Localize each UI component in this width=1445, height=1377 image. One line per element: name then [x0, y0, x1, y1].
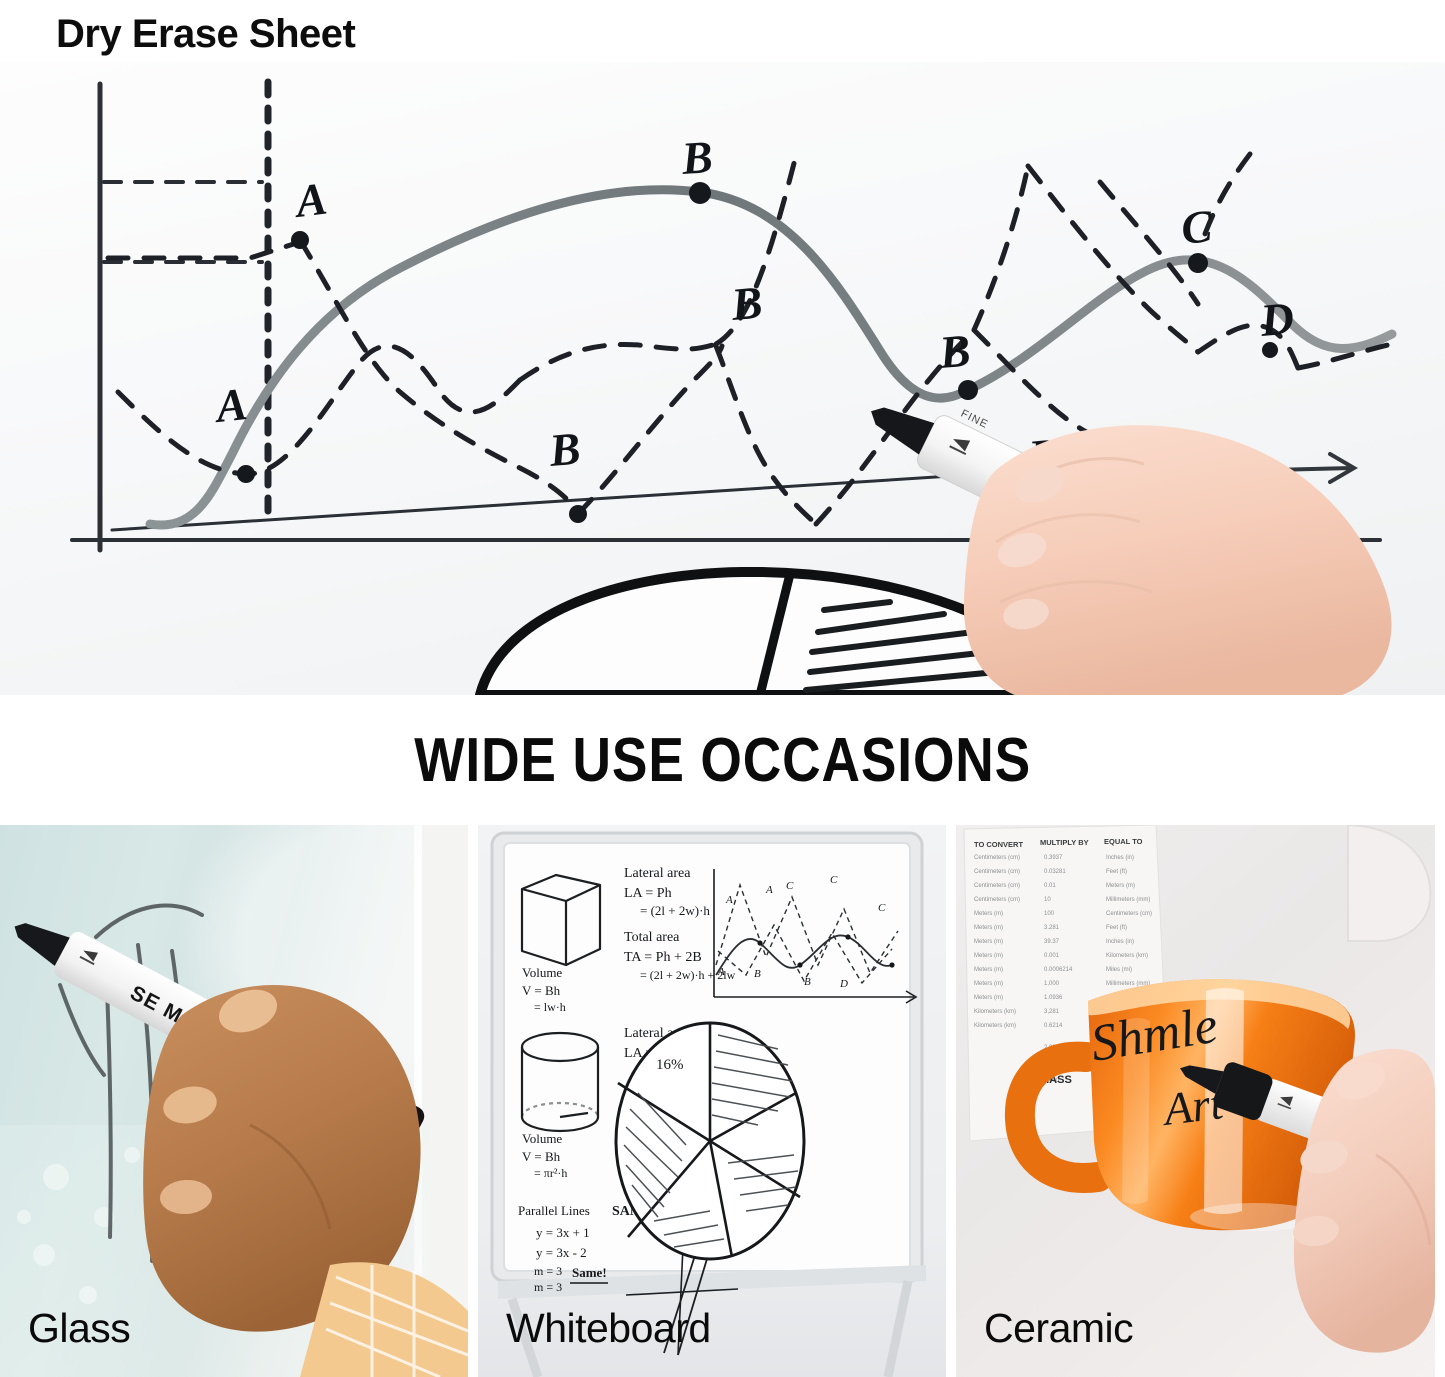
conversion-table-cell: 100 — [1044, 911, 1055, 917]
svg-text:B: B — [754, 968, 761, 980]
svg-text:V = Bh: V = Bh — [522, 983, 561, 998]
page-title-bar: Dry Erase Sheet — [0, 0, 1445, 62]
conversion-table-cell: Kilometers (km) — [974, 1009, 1016, 1015]
panel-ceramic: TO CONVERT MULTIPLY BY EQUAL TO Centimet… — [956, 825, 1435, 1377]
use-case-panels: SE MARKER — [0, 825, 1445, 1377]
conversion-table-cell: 0.6214 — [1044, 1023, 1063, 1029]
svg-text:Volume: Volume — [522, 1131, 562, 1146]
wide-use-banner: WIDE USE OCCASIONS — [0, 695, 1445, 825]
conversion-table-cell: 1,000 — [1044, 981, 1060, 987]
conversion-table-cell: 0.0006214 — [1044, 967, 1073, 973]
svg-text:C: C — [830, 874, 838, 886]
conversion-table-cell: 39.37 — [1044, 939, 1060, 945]
conversion-table-cell: Centimeters (cm) — [974, 869, 1020, 875]
conversion-table-cell: Centimeters (cm) — [974, 897, 1020, 903]
svg-text:= (2l + 2w)·h: = (2l + 2w)·h — [640, 903, 710, 918]
conversion-table-cell: Inches (in) — [1106, 939, 1134, 945]
svg-text:y = 3x + 1: y = 3x + 1 — [536, 1225, 590, 1240]
svg-text:C: C — [786, 880, 794, 892]
svg-text:D: D — [1257, 292, 1296, 346]
panel-caption-glass: Glass — [28, 1308, 130, 1349]
svg-text:Total area: Total area — [624, 930, 680, 945]
conversion-table-cell: Centimeters (cm) — [1106, 911, 1152, 917]
conversion-table-cell: 0.001 — [1044, 953, 1060, 959]
conversion-table-cell: 0.03281 — [1044, 869, 1066, 875]
page-title: Dry Erase Sheet — [56, 6, 1445, 62]
svg-text:B: B — [728, 276, 764, 330]
svg-text:B: B — [804, 976, 811, 988]
svg-text:A: A — [211, 378, 250, 432]
conversion-table-cell: Meters (m) — [974, 995, 1003, 1001]
svg-text:C: C — [878, 902, 886, 914]
conversion-table-cell: Feet (ft) — [1106, 925, 1127, 931]
panel-whiteboard: Lateral area LA = Ph = (2l + 2w)·h Total… — [478, 825, 946, 1377]
svg-text:m = 3: m = 3 — [534, 1264, 562, 1278]
pie-slice-label: 16% — [656, 1057, 684, 1073]
conversion-table-cell: Centimeters (cm) — [974, 855, 1020, 861]
hero-guide-horizontal — [104, 182, 262, 262]
conversion-table-cell: Meters (m) — [1106, 883, 1135, 889]
glass-scene: SE MARKER — [0, 825, 468, 1377]
conversion-table-cell: 1.0936 — [1044, 995, 1063, 1001]
svg-text:B: B — [546, 422, 582, 476]
conversion-table-cell: Meters (m) — [974, 925, 1003, 931]
conversion-table-cell: Inches (in) — [1106, 855, 1134, 861]
svg-text:= πr²·h: = πr²·h — [534, 1166, 567, 1180]
svg-text:A: A — [717, 966, 725, 978]
conversion-table-cell: Miles (mi) — [1106, 967, 1132, 973]
panel-caption-whiteboard: Whiteboard — [506, 1308, 711, 1349]
conversion-table-cell: Feet (ft) — [1106, 869, 1127, 875]
svg-text:m = 3: m = 3 — [534, 1280, 562, 1294]
svg-text:A: A — [290, 173, 330, 228]
banner-heading: WIDE USE OCCASIONS — [414, 725, 1031, 796]
panel-glass: SE MARKER — [0, 825, 468, 1377]
svg-text:Same!: Same! — [572, 1265, 607, 1280]
ceramic-scene: TO CONVERT MULTIPLY BY EQUAL TO Centimet… — [956, 825, 1435, 1377]
svg-text:TO CONVERT: TO CONVERT — [974, 840, 1023, 849]
conversion-table-cell: 10 — [1044, 897, 1051, 903]
hero-hand-with-marker: DRY ERASE MARKER FINE — [900, 392, 1445, 695]
conversion-table-cell: 3.281 — [1044, 925, 1060, 931]
conversion-table-cell: Millimeters (mm) — [1106, 897, 1150, 903]
svg-text:MULTIPLY BY: MULTIPLY BY — [1040, 838, 1089, 847]
conversion-table-cell: Meters (m) — [974, 939, 1003, 945]
ceramic-bowl — [1348, 825, 1430, 941]
conversion-table-cell: Kilometers (km) — [974, 1023, 1016, 1029]
svg-text:y = 3x - 2: y = 3x - 2 — [536, 1245, 587, 1260]
svg-text:TA = Ph + 2B: TA = Ph + 2B — [624, 950, 702, 965]
conversion-table-cell: Meters (m) — [974, 981, 1003, 987]
svg-text:= lw·h: = lw·h — [534, 1000, 566, 1014]
conversion-table-cell: 0.01 — [1044, 883, 1056, 889]
whiteboard-pie-chart: 16% — [616, 1023, 804, 1259]
svg-text:LA = Ph: LA = Ph — [624, 886, 672, 901]
svg-text:EQUAL TO: EQUAL TO — [1104, 837, 1143, 846]
svg-text:D: D — [839, 978, 848, 990]
svg-text:B: B — [936, 324, 972, 378]
svg-text:A: A — [725, 894, 733, 906]
conversion-table-cell: Centimeters (cm) — [974, 883, 1020, 889]
svg-text:Lateral area: Lateral area — [624, 866, 691, 881]
conversion-table-cell: Meters (m) — [974, 967, 1003, 973]
svg-text:Parallel Lines: Parallel Lines — [518, 1203, 590, 1218]
hero-hand-shape — [964, 425, 1392, 695]
conversion-table-cell: Kilometers (km) — [1106, 953, 1148, 959]
conversion-table-cell: Meters (m) — [974, 911, 1003, 917]
svg-text:Volume: Volume — [522, 965, 562, 980]
whiteboard-scene: Lateral area LA = Ph = (2l + 2w)·h Total… — [478, 825, 946, 1377]
svg-text:V = Bh: V = Bh — [522, 1149, 561, 1164]
panel-caption-ceramic: Ceramic — [984, 1308, 1133, 1349]
svg-text:C: C — [1179, 200, 1216, 254]
conversion-table-cell: 3,281 — [1044, 1009, 1060, 1015]
conversion-table-cell: 0.3937 — [1044, 855, 1063, 861]
hero-image: A A B B B B C D D — [0, 62, 1445, 695]
conversion-table-cell: Meters (m) — [974, 953, 1003, 959]
svg-text:A: A — [765, 884, 773, 896]
svg-text:B: B — [679, 131, 714, 184]
